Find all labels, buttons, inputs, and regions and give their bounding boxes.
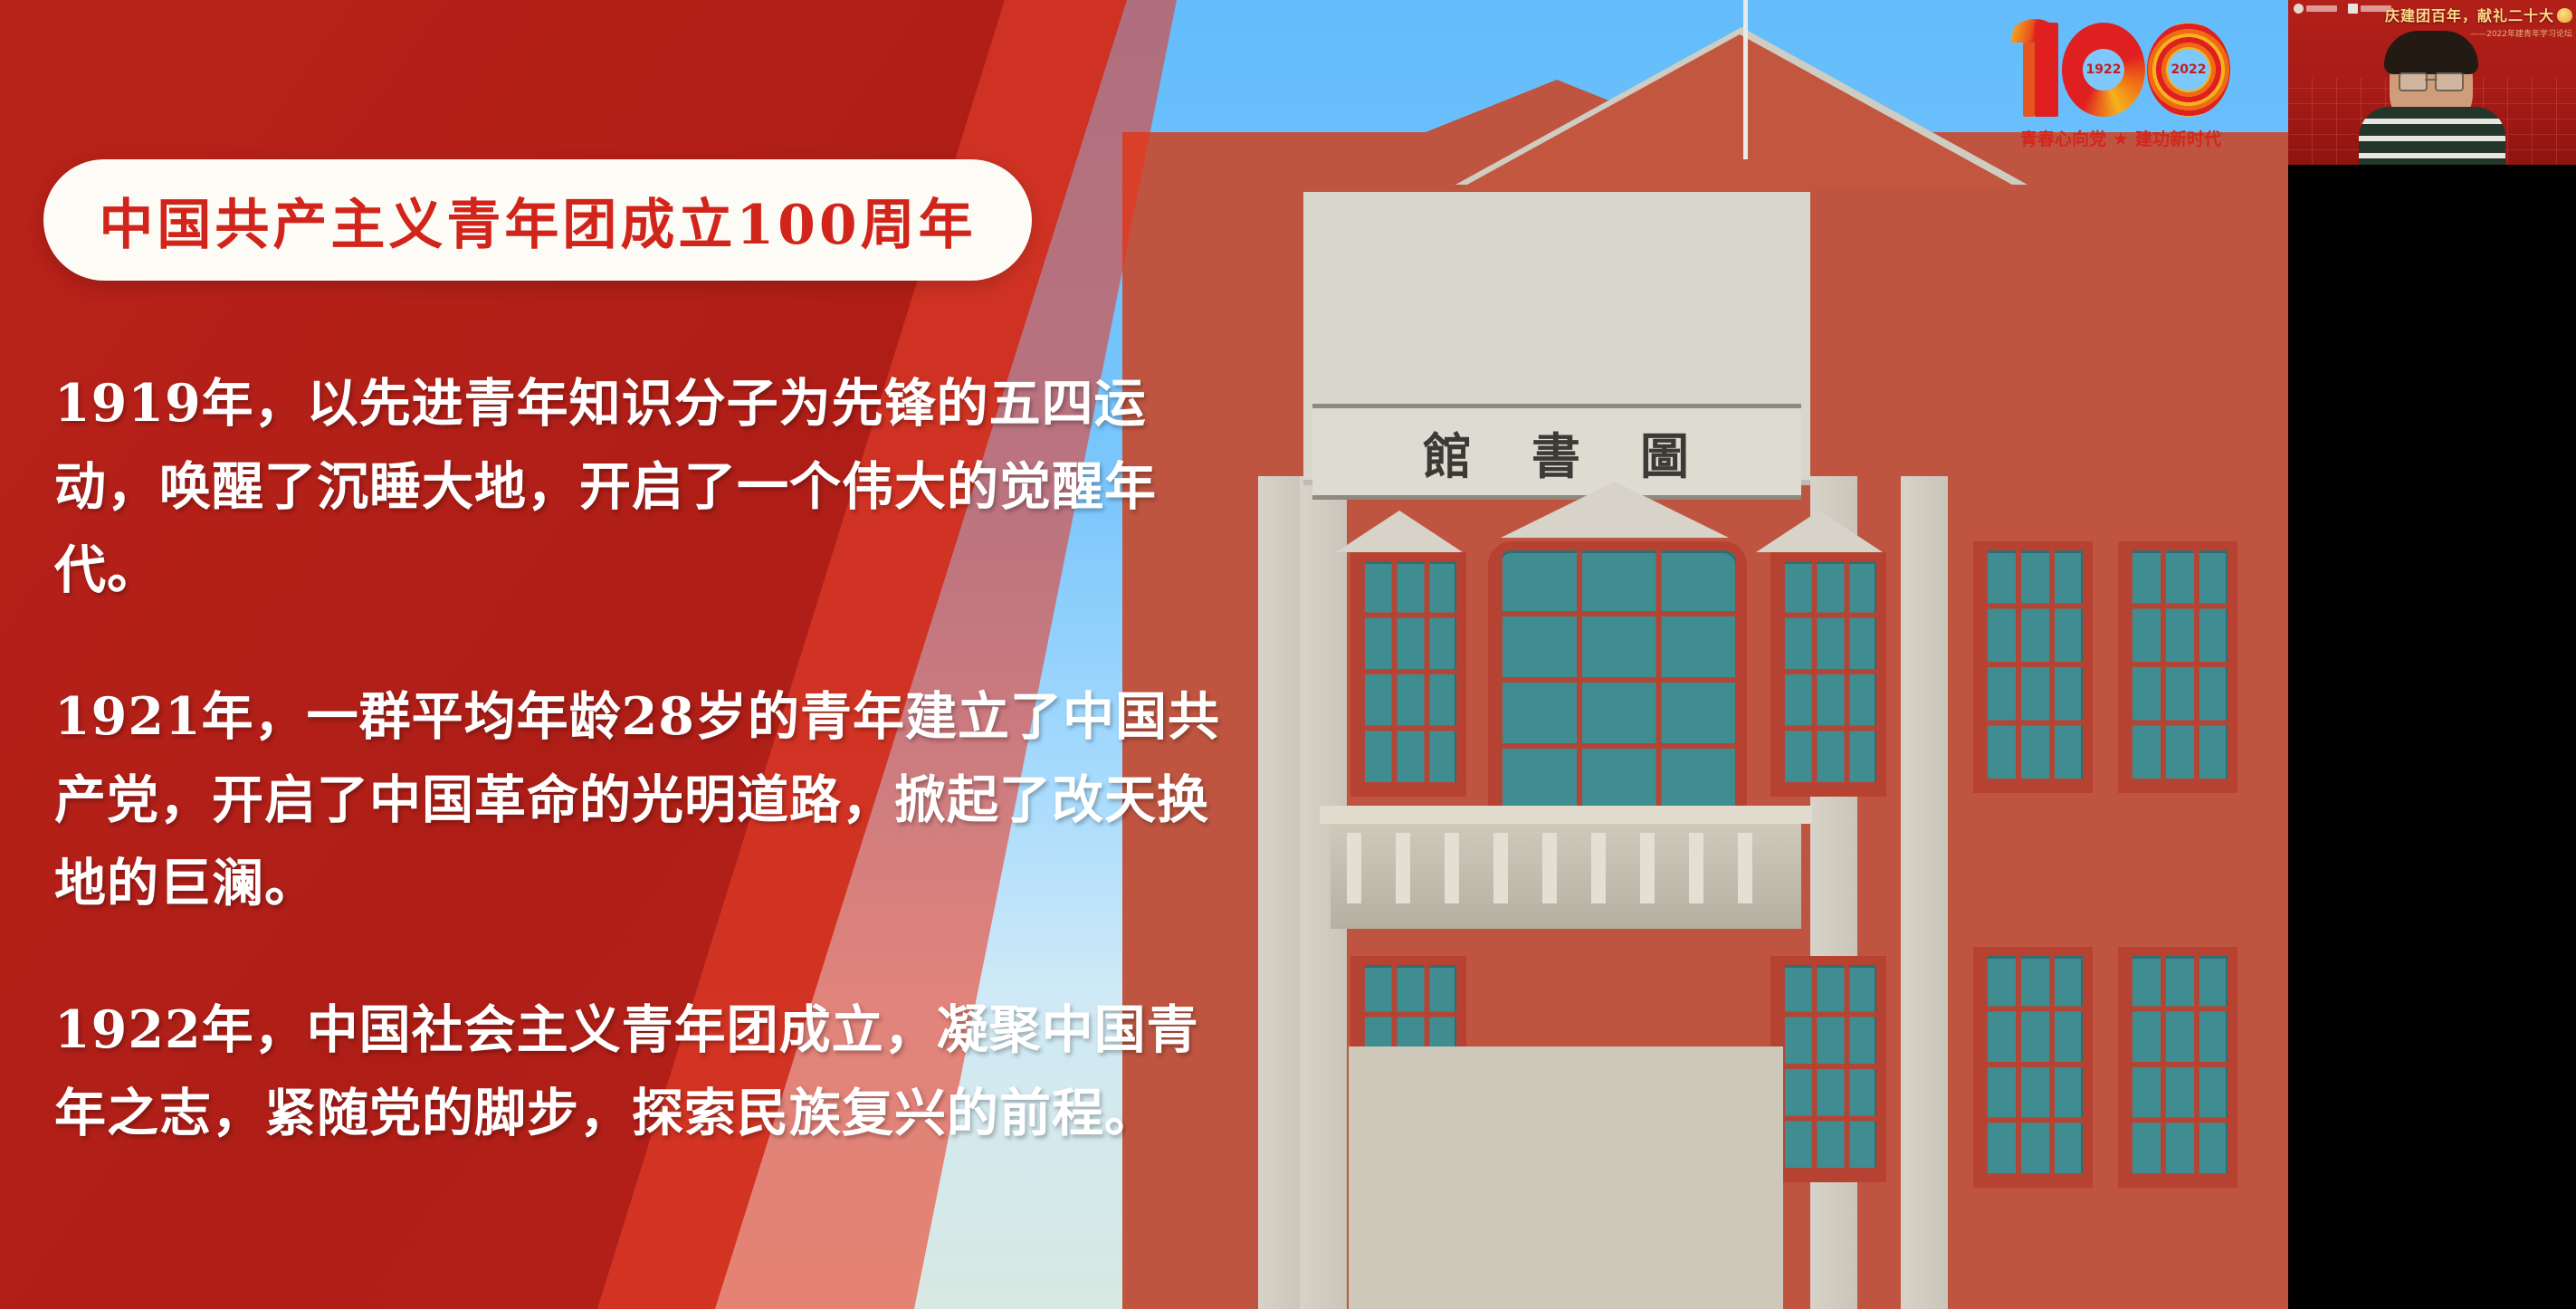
webcam-panel[interactable]: 庆建团百年，献礼二十大 ——2022年建青年学习论坛 [2288, 0, 2576, 1309]
window-lower-right [1770, 956, 1886, 1182]
youth-league-emblem-icon [2557, 8, 2572, 23]
university-seal-icon [2294, 4, 2304, 14]
balcony-cap [1320, 806, 1812, 824]
logo-year-start: 1922 [2083, 49, 2124, 91]
logo-numeral: 1922 2022 [2008, 16, 2234, 123]
sign-char-3: 圖 [1640, 416, 1691, 488]
window-center-large [1488, 541, 1747, 824]
logo-tagline-left: 青春心向党 [2020, 126, 2106, 150]
window-lower-far-1 [1973, 947, 2093, 1188]
library-building-photo: 館 書 圖 [1068, 0, 2288, 1309]
glasses-icon [2399, 72, 2464, 88]
slide-body: 1919年，以先进青年知识分子为先锋的五四运动，唤醒了沉睡大地，开启了一个伟大的… [54, 362, 1231, 1155]
logo-one-stripe-2 [2035, 23, 2058, 117]
window-pediment-center [1501, 482, 1729, 538]
anniversary-logo: 1922 2022 青春心向党 ★ 建功新时代 [2008, 16, 2234, 161]
slide-title-banner: 中国共产主义青年团成立100周年 [43, 159, 1032, 281]
pilaster-1 [1258, 476, 1305, 1309]
star-icon: ★ [2113, 128, 2129, 149]
paragraph-1921: 1921年，一群平均年龄28岁的青年建立了中国共产党，开启了中国革命的光明道路，… [54, 675, 1231, 925]
logo-tagline: 青春心向党 ★ 建功新时代 [2008, 126, 2234, 150]
logo-tagline-right: 建功新时代 [2135, 126, 2221, 150]
sign-char-1: 館 [1423, 416, 1474, 488]
webcam-video[interactable]: 庆建团百年，献礼二十大 ——2022年建青年学习论坛 [2288, 0, 2576, 165]
sign-char-2: 書 [1531, 416, 1582, 488]
logo-digit-one [2011, 23, 2060, 117]
window-pediment-left [1336, 511, 1463, 552]
screen: 館 書 圖 [0, 0, 2576, 1309]
banner-headline: 庆建团百年，献礼二十大 [2385, 7, 2554, 24]
roof-spire [1743, 0, 1748, 159]
paragraph-1919: 1919年，以先进青年知识分子为先锋的五四运动，唤醒了沉睡大地，开启了一个伟大的… [54, 362, 1231, 612]
participant-video-figure [2359, 31, 2505, 165]
participant-torso [2359, 107, 2505, 165]
paragraph-1922: 1922年，中国社会主义青年团成立，凝聚中国青年之志，紧随党的脚步，探索民族复兴… [54, 989, 1231, 1155]
pilaster-4 [1901, 476, 1948, 1309]
partner-mark-icon [2348, 4, 2358, 14]
porch-base [1349, 1046, 1783, 1309]
building: 館 書 圖 [1122, 132, 2288, 1309]
page-title: 中国共产主义青年团成立100周年 [99, 181, 976, 260]
university-wordmark-1 [2306, 5, 2337, 12]
logo-digit-zero-second: 2022 [2147, 23, 2230, 117]
window-pediment-right [1756, 511, 1883, 552]
glasses-lens-left [2399, 72, 2428, 91]
logo-year-end: 2022 [2168, 49, 2209, 91]
presentation-slide: 館 書 圖 [0, 0, 2288, 1309]
university-logo-1 [2294, 4, 2337, 14]
logo-one-stripe-3 [2011, 39, 2023, 117]
window-left-upper [1350, 552, 1466, 797]
balcony [1331, 820, 1801, 929]
webcam-empty-area [2288, 165, 2576, 1309]
window-far-right-1 [1973, 541, 2093, 793]
logo-one-stripe-1 [2023, 43, 2035, 117]
balcony-railing [1347, 833, 1785, 903]
glasses-lens-right [2435, 72, 2464, 91]
window-lower-far-2 [2118, 947, 2237, 1188]
banner-headline-wrap: 庆建团百年，献礼二十大 [2375, 4, 2572, 25]
gable-roof [1457, 34, 2022, 190]
logo-digit-zero-first: 1922 [2062, 23, 2145, 117]
participant-hair [2384, 31, 2478, 74]
window-right-upper [1770, 552, 1886, 797]
window-far-right-2 [2118, 541, 2237, 793]
